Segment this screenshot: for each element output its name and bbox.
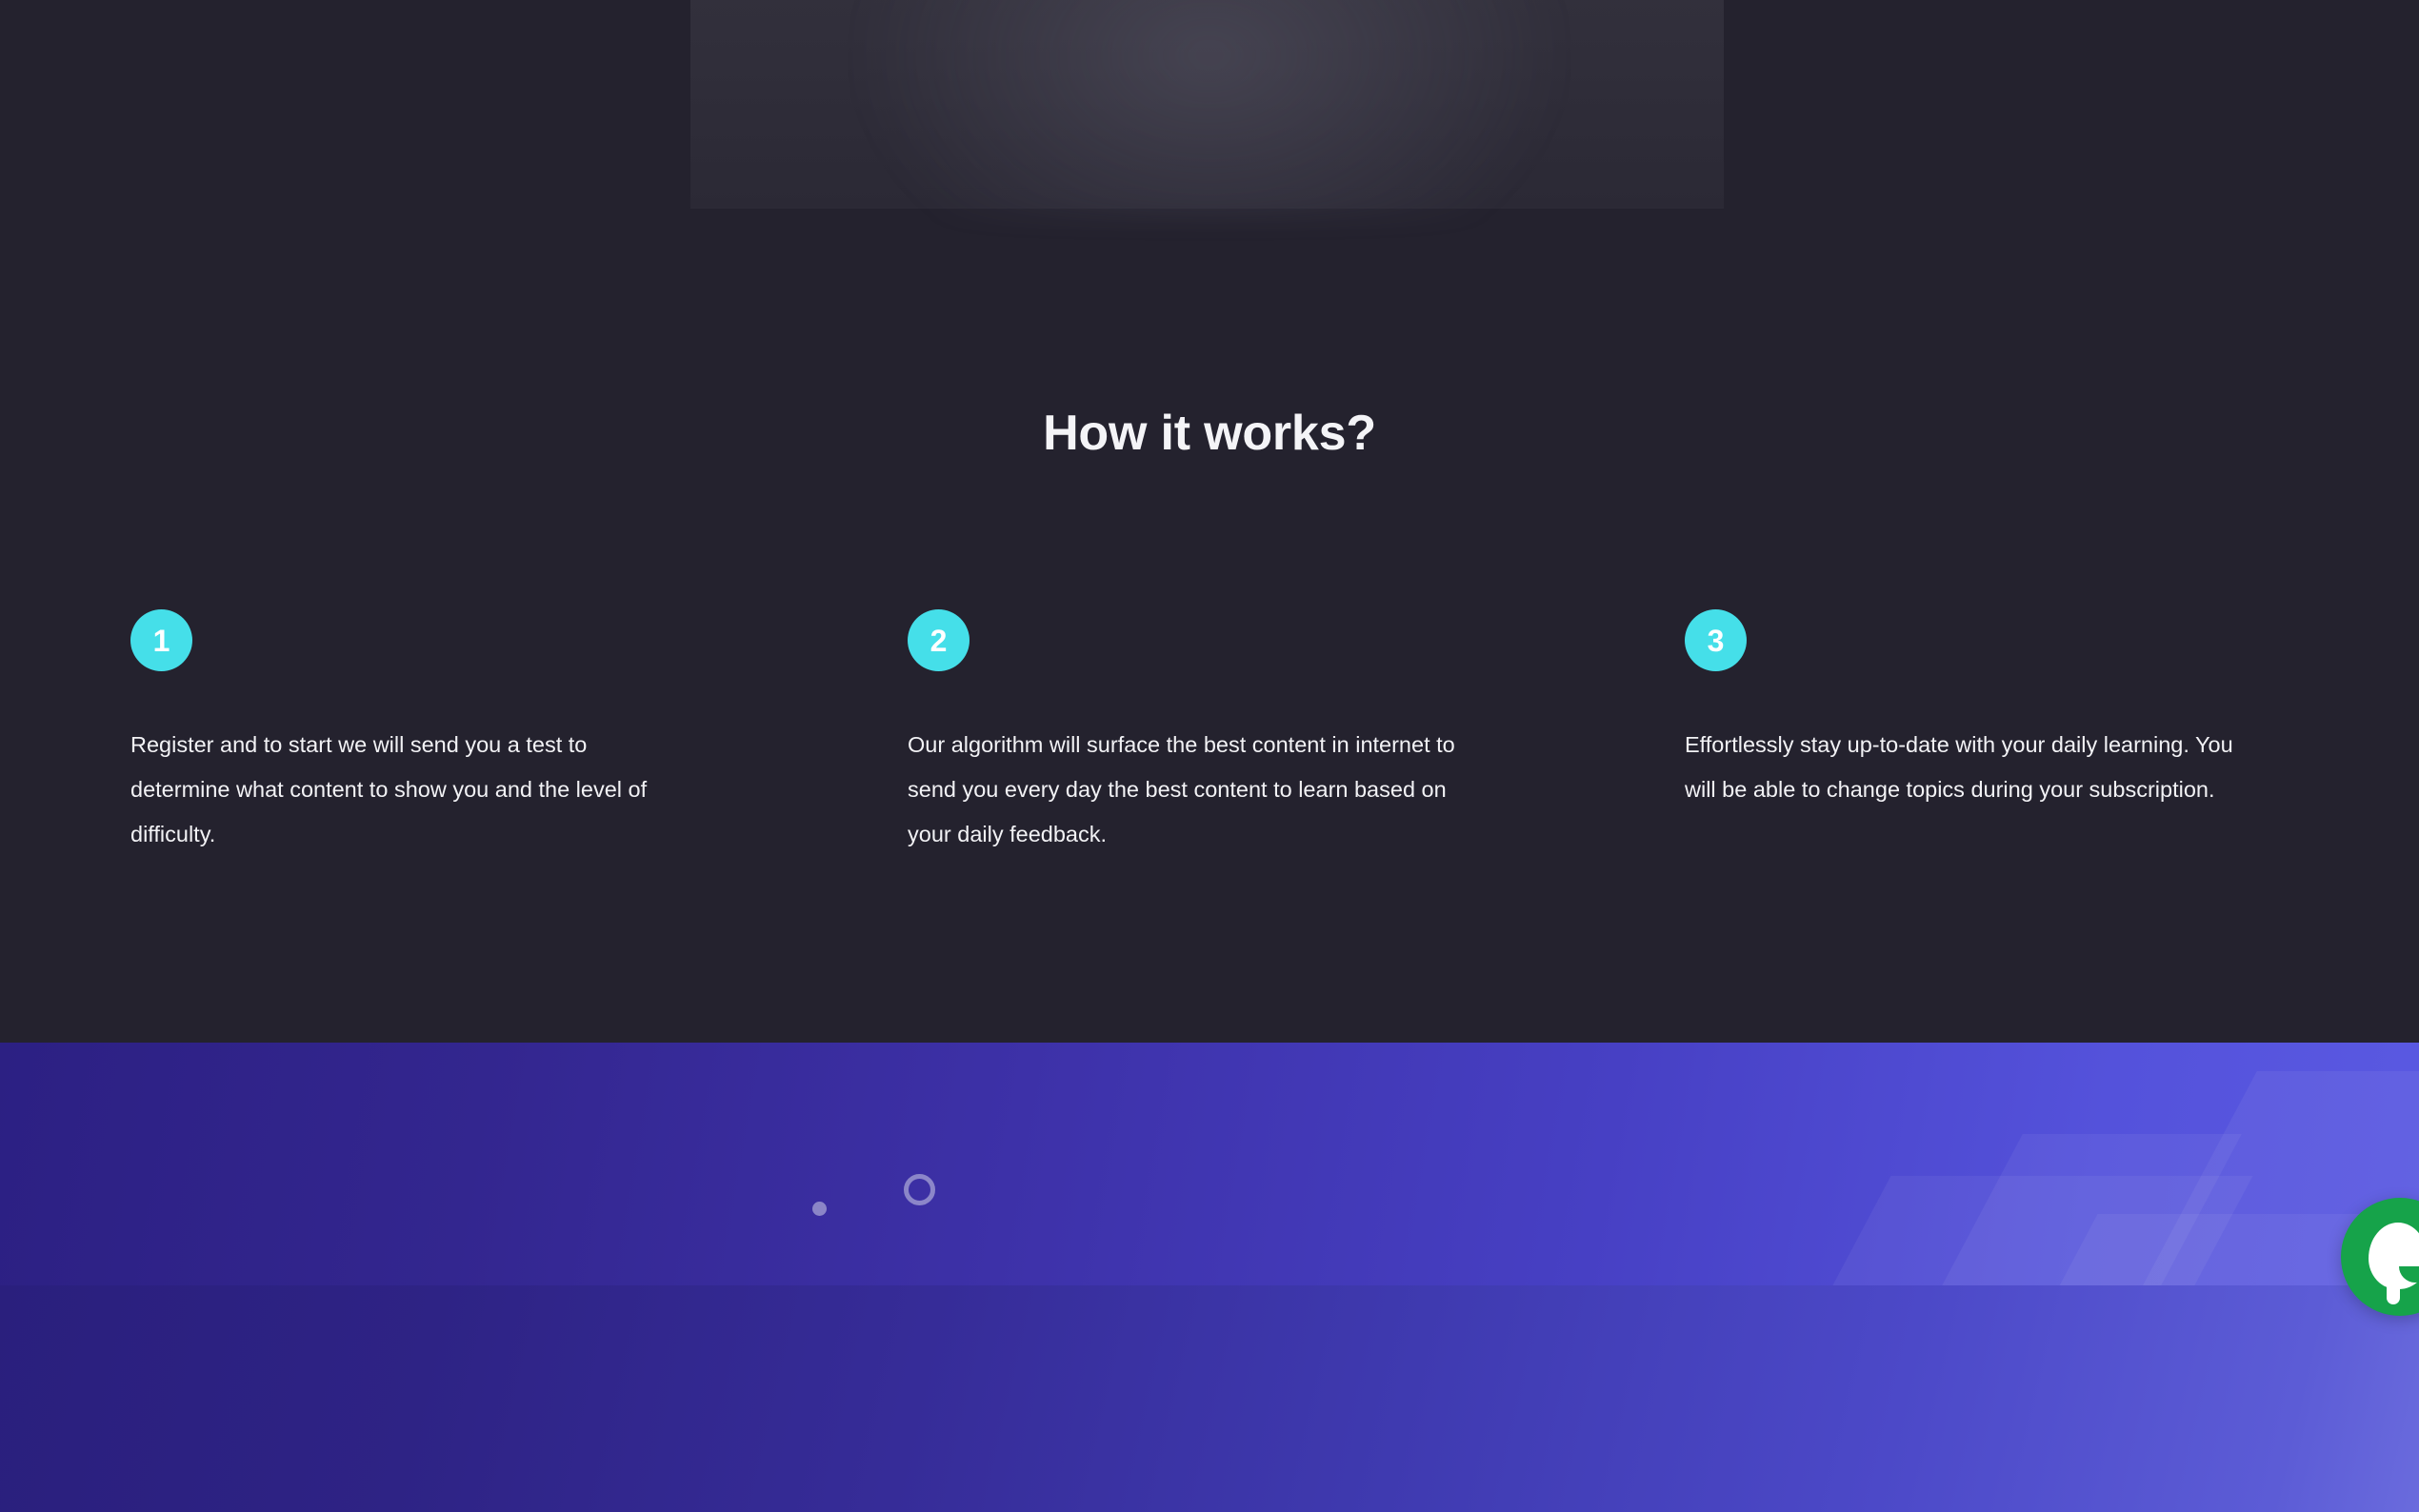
page-root: How it works? 1 Register and to start we… xyxy=(0,0,2419,1512)
dot-small-decoration xyxy=(812,1202,827,1216)
purple-banner-section-lower xyxy=(0,1285,2419,1512)
step-item: 2 Our algorithm will surface the best co… xyxy=(908,609,1460,880)
step-number-badge: 1 xyxy=(130,609,192,671)
diagonal-stripe-decoration xyxy=(1794,1176,2252,1285)
step-description: Our algorithm will surface the best cont… xyxy=(908,723,1460,857)
page-title: How it works? xyxy=(0,405,2419,462)
steps-list: 1 Register and to start we will send you… xyxy=(130,609,2289,880)
step-number-badge: 2 xyxy=(908,609,970,671)
media-panel-above xyxy=(690,0,1724,208)
purple-banner-section xyxy=(0,1043,2419,1285)
step-item: 1 Register and to start we will send you… xyxy=(130,609,683,880)
dot-ring-decoration xyxy=(904,1174,935,1205)
how-it-works-section: How it works? 1 Register and to start we… xyxy=(0,0,2419,1043)
diagonal-stripe-decoration xyxy=(1901,1134,2242,1285)
step-item: 3 Effortlessly stay up-to-date with your… xyxy=(1685,609,2237,880)
step-description: Register and to start we will send you a… xyxy=(130,723,683,857)
chat-bubble-tail-icon xyxy=(2387,1280,2400,1304)
step-number-badge: 3 xyxy=(1685,609,1747,671)
step-description: Effortlessly stay up-to-date with your d… xyxy=(1685,723,2256,812)
